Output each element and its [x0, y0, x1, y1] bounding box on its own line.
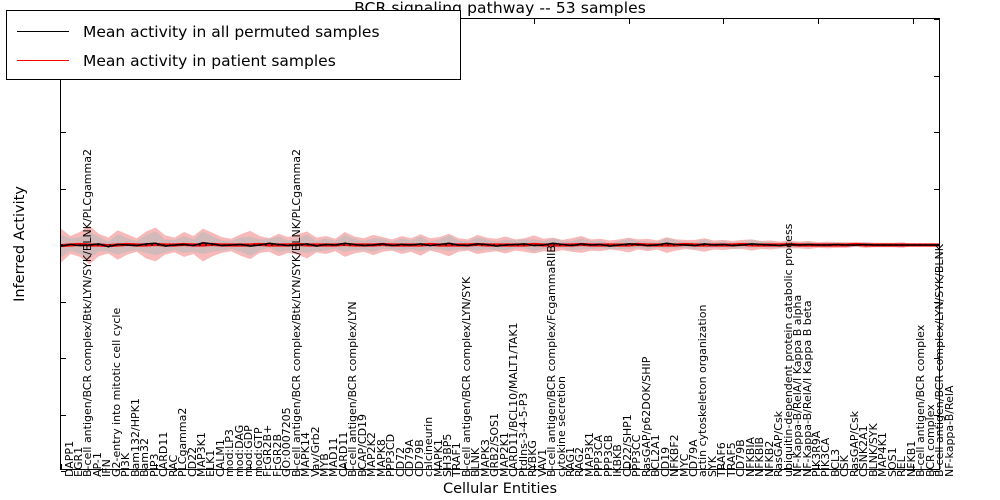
plot-axes: 43210−1−2−3−4 — [60, 18, 940, 470]
data-plot-svg — [61, 19, 939, 469]
x-tick-mark — [534, 19, 535, 24]
y-tick-mark — [61, 189, 66, 190]
x-category-label: NF-kappa-B/RelA — [944, 386, 955, 477]
y-tick-mark — [61, 415, 66, 416]
legend-label-permuted: Mean activity in all permuted samples — [83, 23, 380, 41]
legend-line-permuted — [17, 31, 69, 32]
legend-line-patient — [17, 60, 69, 61]
x-tick-mark — [913, 19, 914, 24]
x-tick-mark — [534, 464, 535, 469]
y-tick-mark — [61, 245, 66, 246]
x-tick-mark — [629, 19, 630, 24]
x-axis-label: Cellular Entities — [0, 481, 1000, 497]
y-tick-mark — [61, 132, 66, 133]
x-tick-mark — [723, 19, 724, 24]
y-tick-mark — [61, 471, 66, 472]
y-axis-label: Inferred Activity — [12, 186, 28, 302]
x-tick-mark — [250, 464, 251, 469]
chart-legend: Mean activity in all permuted samples Me… — [6, 10, 461, 80]
y-tick-mark — [934, 358, 939, 359]
y-tick-mark — [61, 358, 66, 359]
legend-item: Mean activity in patient samples — [17, 46, 450, 75]
x-tick-mark — [723, 464, 724, 469]
y-tick-mark — [934, 76, 939, 77]
chart-figure: BCR signaling pathway -- 53 samples 4321… — [0, 0, 1000, 500]
y-tick-mark — [934, 415, 939, 416]
x-tick-mark — [629, 464, 630, 469]
legend-label-patient: Mean activity in patient samples — [83, 52, 336, 70]
x-tick-mark — [913, 464, 914, 469]
y-tick-mark — [934, 189, 939, 190]
x-tick-mark — [439, 464, 440, 469]
x-tick-mark — [61, 464, 62, 469]
plot-area — [61, 19, 939, 469]
y-tick-mark — [934, 132, 939, 133]
x-tick-mark — [345, 464, 346, 469]
legend-item: Mean activity in all permuted samples — [17, 17, 450, 46]
x-tick-mark — [156, 464, 157, 469]
x-tick-mark — [818, 19, 819, 24]
y-tick-mark — [934, 19, 939, 20]
y-tick-mark — [934, 245, 939, 246]
y-tick-mark — [61, 302, 66, 303]
y-tick-mark — [934, 471, 939, 472]
y-tick-mark — [934, 302, 939, 303]
x-tick-mark — [818, 464, 819, 469]
